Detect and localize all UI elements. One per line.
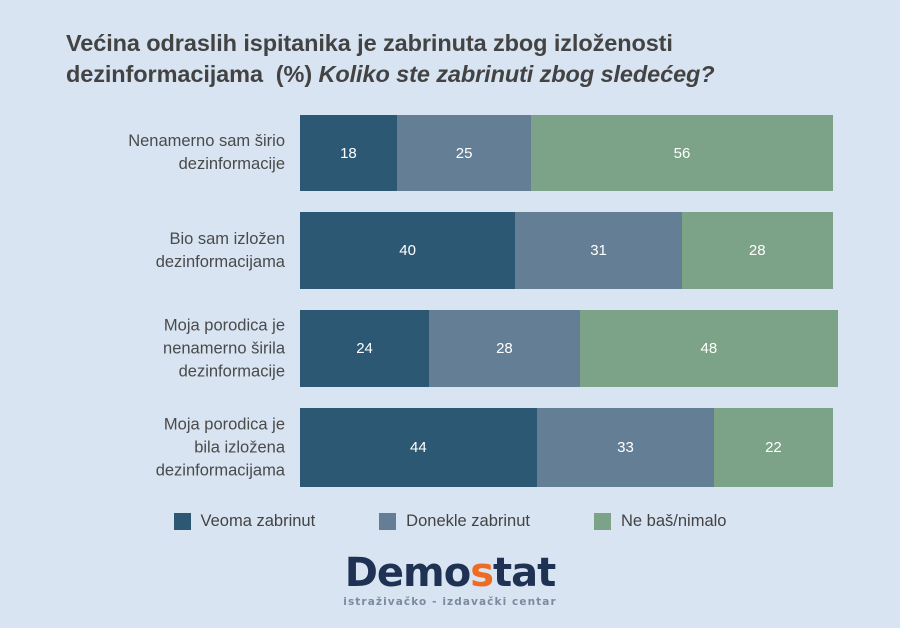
legend-label: Ne baš/nimalo [621, 512, 726, 531]
bar-row: Moja porodica jebila izloženadezinformac… [0, 408, 900, 487]
bar-segment-value: 40 [399, 242, 416, 259]
legend-item[interactable]: Ne baš/nimalo [594, 512, 726, 531]
bar-segment-value: 24 [356, 340, 373, 357]
legend-label: Veoma zabrinut [201, 512, 316, 531]
bar-segment[interactable]: 48 [580, 310, 838, 387]
bar-segment[interactable]: 33 [537, 408, 715, 487]
logo-wordmark: Demostat [0, 552, 900, 594]
bar-segment-value: 18 [340, 145, 357, 162]
chart-plot-area: Nenamerno sam širiodezinformacije182556B… [0, 108, 900, 498]
bar-segment-value: 56 [674, 145, 691, 162]
legend-item[interactable]: Donekle zabrinut [379, 512, 530, 531]
bar-segment[interactable]: 56 [531, 115, 832, 191]
bar-segment-value: 33 [617, 439, 634, 456]
bar-segment-value: 28 [496, 340, 513, 357]
bar-segment-value: 48 [701, 340, 718, 357]
bar-segment[interactable]: 18 [300, 115, 397, 191]
legend-label: Donekle zabrinut [406, 512, 530, 531]
bar-segment[interactable]: 28 [429, 310, 580, 387]
bar-row: Nenamerno sam širiodezinformacije182556 [0, 115, 900, 191]
bar-segment[interactable]: 24 [300, 310, 429, 387]
bar-segment-value: 31 [590, 242, 607, 259]
bar-category-label: Moja porodica jebila izloženadezinformac… [60, 413, 285, 482]
bar-segment[interactable]: 22 [714, 408, 832, 487]
bar-row: Moja porodica jenenamerno širiladezinfor… [0, 310, 900, 387]
bar-segment[interactable]: 28 [682, 212, 833, 289]
logo-word-part1: Demo [345, 550, 471, 596]
bar-segment[interactable]: 31 [515, 212, 682, 289]
logo-word-accent: s [470, 550, 493, 596]
bar-segment-value: 25 [456, 145, 473, 162]
legend-swatch-icon [379, 513, 396, 530]
chart-title-unit: (%) [276, 61, 312, 87]
chart-title-question: Koliko ste zabrinuti zbog sledećeg? [318, 61, 714, 87]
bar-track: 403128 [300, 212, 833, 289]
bar-category-label: Bio sam izložendezinformacijama [60, 228, 285, 274]
brand-logo: Demostat istraživačko - izdavački centar [0, 552, 900, 608]
legend-swatch-icon [594, 513, 611, 530]
bar-segment[interactable]: 25 [397, 115, 532, 191]
bar-segment-value: 44 [410, 439, 427, 456]
bar-track: 182556 [300, 115, 833, 191]
legend-swatch-icon [174, 513, 191, 530]
bar-row: Bio sam izložendezinformacijama403128 [0, 212, 900, 289]
legend-item[interactable]: Veoma zabrinut [174, 512, 316, 531]
logo-tagline: istraživačko - izdavački centar [0, 596, 900, 608]
bar-track: 443322 [300, 408, 833, 487]
logo-word-part2: tat [493, 550, 555, 596]
bar-category-label: Nenamerno sam širiodezinformacije [60, 130, 285, 176]
chart-legend: Veoma zabrinutDonekle zabrinutNe baš/nim… [0, 512, 900, 531]
bar-segment[interactable]: 44 [300, 408, 537, 487]
chart-title: Većina odraslih ispitanika je zabrinuta … [66, 28, 866, 90]
bar-track: 242848 [300, 310, 838, 387]
bar-segment-value: 28 [749, 242, 766, 259]
bar-segment[interactable]: 40 [300, 212, 515, 289]
bar-category-label: Moja porodica jenenamerno širiladezinfor… [60, 314, 285, 383]
bar-segment-value: 22 [765, 439, 782, 456]
